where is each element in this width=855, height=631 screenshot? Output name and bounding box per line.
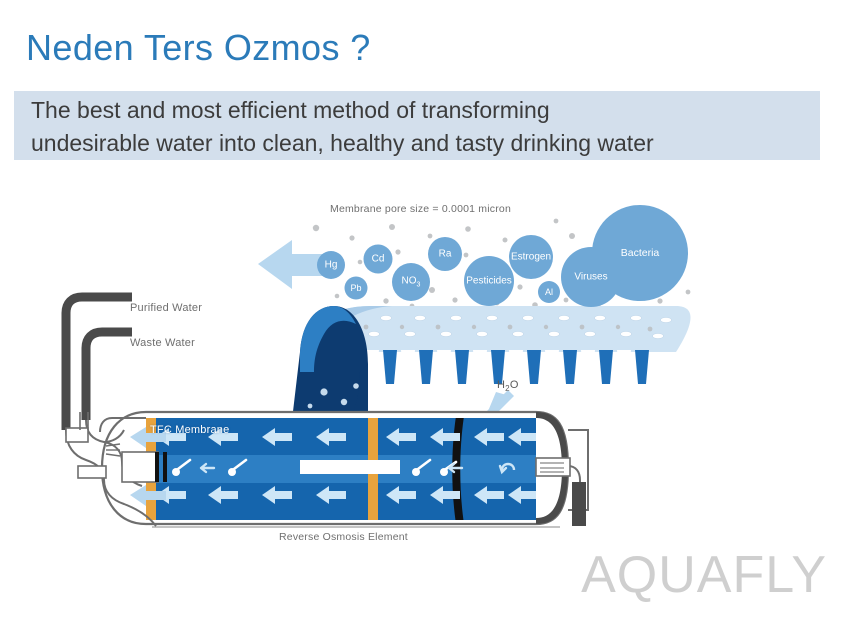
contaminant-bubble (464, 256, 514, 306)
subtitle-line-2: undesirable water into clean, healthy an… (31, 127, 821, 160)
reverse-osmosis-diagram: Membrane pore size = 0.0001 micron Bacte… (0, 180, 855, 580)
subtitle-line-1: The best and most efficient method of tr… (31, 94, 821, 127)
contaminant-bubble (538, 281, 560, 303)
water-molecule-label: H2O (497, 379, 519, 393)
contaminant-bubble (345, 277, 368, 300)
contaminant-bubble (428, 237, 462, 271)
page-title: Neden Ters Ozmos ? (26, 27, 371, 69)
waste-water-label: Waste Water (130, 337, 195, 349)
contaminant-bubble (509, 235, 553, 279)
contaminant-bubble (561, 247, 621, 307)
contaminant-bubble (317, 251, 345, 279)
pore-size-note: Membrane pore size = 0.0001 micron (330, 203, 511, 215)
tfc-membrane-label: TFC Membrane (150, 424, 229, 436)
contaminant-bubbles (317, 205, 688, 307)
contaminant-bubble (392, 263, 430, 301)
aquafly-watermark: AQUAFLY (581, 549, 827, 601)
ro-element-caption: Reverse Osmosis Element (279, 531, 408, 543)
vessel-plumbing (66, 297, 132, 430)
purified-water-label: Purified Water (130, 302, 202, 314)
subtitle-text: The best and most efficient method of tr… (31, 94, 821, 160)
contaminant-bubble (364, 245, 393, 274)
